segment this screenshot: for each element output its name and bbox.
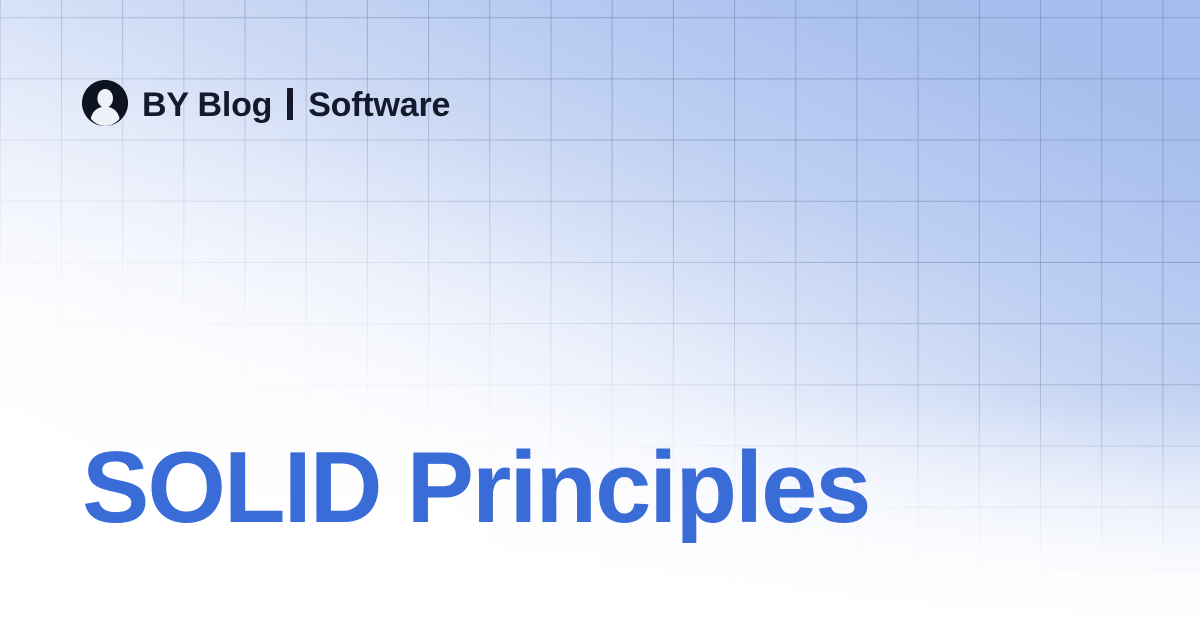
banner-content: BY Blog Software SOLID Principles: [0, 0, 1200, 630]
brand-category: Software: [308, 88, 450, 122]
page-title: SOLID Principles: [82, 435, 869, 542]
brand-title: BY Blog Software: [142, 84, 450, 122]
user-avatar-icon: [82, 80, 128, 126]
og-banner: BY Blog Software SOLID Principles: [0, 0, 1200, 630]
brand-name: BY Blog: [142, 88, 272, 122]
brand-separator-icon: [287, 88, 293, 120]
brand-row: BY Blog Software: [82, 80, 450, 126]
